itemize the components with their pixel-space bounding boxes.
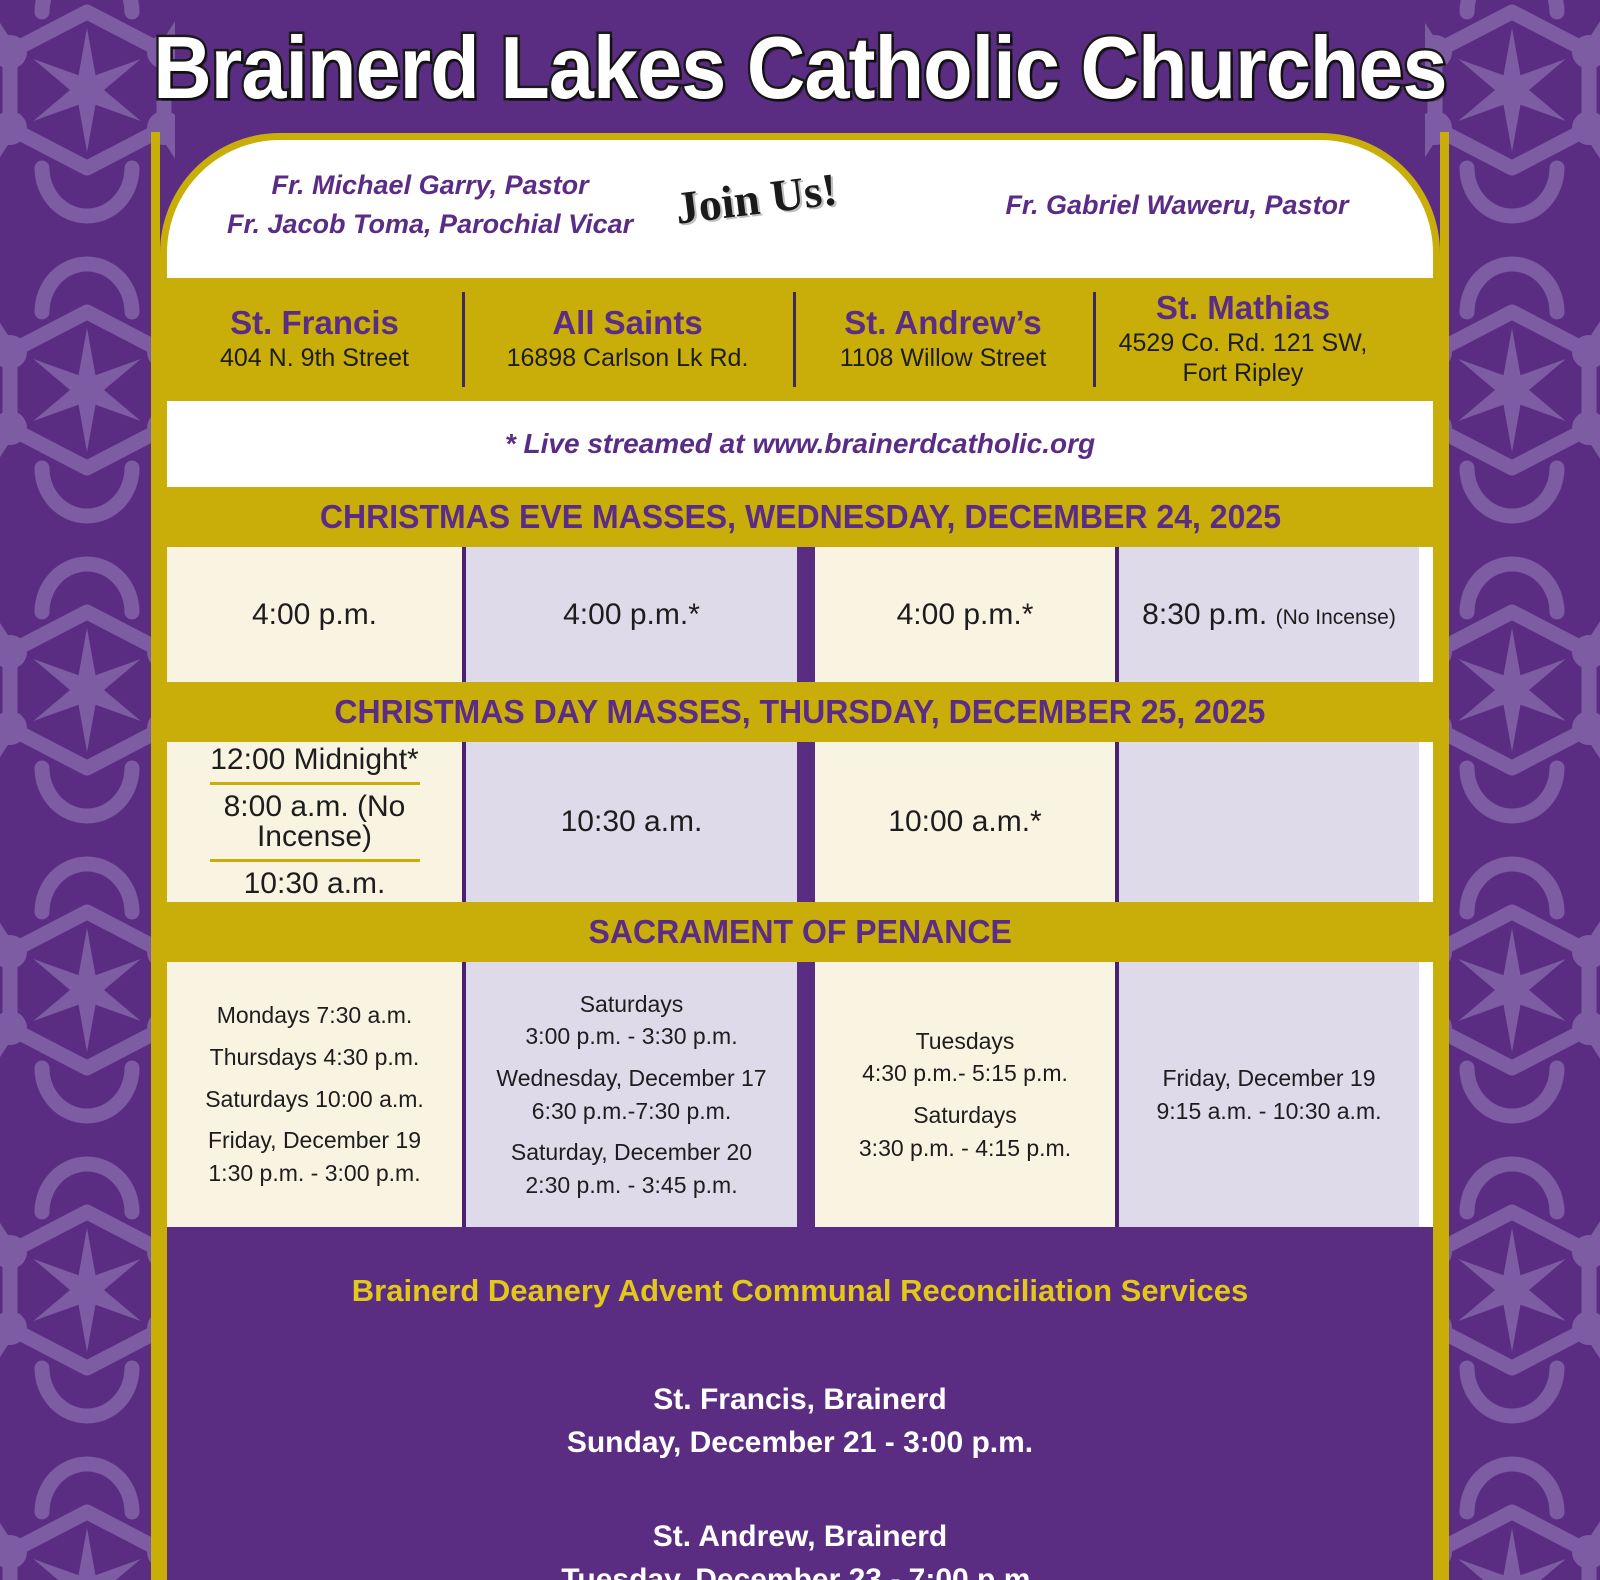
- penance-group: Friday, December 19 1:30 p.m. - 3:00 p.m…: [205, 1124, 424, 1189]
- penance-row: Mondays 7:30 a.m. Thursdays 4:30 p.m. Sa…: [167, 962, 1433, 1227]
- ornament-tile: [1425, 1140, 1600, 1440]
- ornament-tile: [0, 540, 175, 840]
- pastors-left-block: Fr. Michael Garry, Pastor Fr. Jacob Toma…: [227, 166, 633, 244]
- reconciliation-place: St. Francis, Brainerd: [187, 1379, 1413, 1422]
- parish-address-line2: Fort Ripley: [1183, 359, 1304, 387]
- christmas-eve-cell-all-saints: 4:00 p.m.*: [466, 547, 797, 682]
- penance-line: 4:30 p.m.- 5:15 p.m.: [859, 1057, 1071, 1090]
- parish-address: 404 N. 9th Street: [220, 343, 409, 373]
- mass-time: 4:00 p.m.: [252, 598, 377, 631]
- christmas-day-heading: CHRISTMAS DAY MASSES, THURSDAY, DECEMBER…: [335, 693, 1266, 731]
- parish-name: St. Francis: [230, 306, 399, 341]
- gold-rule-left: [151, 132, 160, 1580]
- christmas-eve-cell-st-francis: 4:00 p.m.: [167, 547, 462, 682]
- ornament-tile: [0, 840, 175, 1140]
- parish-address-line1: 4529 Co. Rd. 121 SW,: [1119, 329, 1368, 357]
- penance-heading: SACRAMENT OF PENANCE: [588, 913, 1011, 951]
- penance-line: Saturday, December 20: [496, 1136, 766, 1169]
- penance-line: 3:30 p.m. - 4:15 p.m.: [859, 1132, 1071, 1165]
- penance-group: Tuesdays 4:30 p.m.- 5:15 p.m.: [859, 1025, 1071, 1090]
- penance-line: Saturdays 10:00 a.m.: [205, 1083, 424, 1116]
- penance-line: Tuesdays: [859, 1025, 1071, 1058]
- ornament-tile: [0, 240, 175, 540]
- parish-name: All Saints: [552, 306, 702, 341]
- parish-address: 16898 Carlson Lk Rd.: [507, 343, 749, 373]
- ornament-tile: [1425, 540, 1600, 840]
- penance-line: Thursdays 4:30 p.m.: [205, 1041, 424, 1074]
- reconciliation-place: St. Andrew, Brainerd: [187, 1516, 1413, 1559]
- penance-line: Friday, December 19: [1156, 1062, 1381, 1095]
- penance-line: Friday, December 19: [205, 1124, 424, 1157]
- page-title: Brainerd Lakes Catholic Churches: [153, 24, 1446, 112]
- ornament-pattern-left: [0, 0, 175, 1580]
- penance-group: Saturday, December 20 2:30 p.m. - 3:45 p…: [496, 1136, 766, 1201]
- mass-time: 8:30 p.m.: [1142, 598, 1267, 631]
- pastors-row: Fr. Michael Garry, Pastor Fr. Jacob Toma…: [167, 140, 1433, 278]
- livestream-note: * Live streamed at www.brainerdcatholic.…: [167, 401, 1433, 487]
- penance-group: Thursdays 4:30 p.m.: [205, 1041, 424, 1074]
- penance-group: Wednesday, December 17 6:30 p.m.-7:30 p.…: [496, 1062, 766, 1127]
- content-card: Fr. Michael Garry, Pastor Fr. Jacob Toma…: [160, 133, 1440, 1580]
- ornament-tile: [1425, 1440, 1600, 1580]
- penance-group: Saturdays 10:00 a.m.: [205, 1083, 424, 1116]
- christmas-day-cell-st-andrews: 10:00 a.m.*: [815, 742, 1115, 902]
- reconciliation-entry: St. Andrew, Brainerd Tuesday, December 2…: [187, 1516, 1413, 1580]
- mass-time: 4:00 p.m.*: [563, 598, 700, 631]
- penance-cell-st-mathias: Friday, December 19 9:15 a.m. - 10:30 a.…: [1119, 962, 1419, 1227]
- poster-header: Brainerd Lakes Catholic Churches: [0, 0, 1600, 135]
- penance-heading-band: SACRAMENT OF PENANCE: [167, 902, 1433, 962]
- pastor-name-garry: Fr. Michael Garry, Pastor: [227, 166, 633, 205]
- penance-line: Saturdays: [859, 1099, 1071, 1132]
- parish-address: 4529 Co. Rd. 121 SW, Fort Ripley: [1119, 328, 1368, 388]
- mass-time: 10:30 a.m.: [167, 867, 462, 901]
- reconciliation-panel: Brainerd Deanery Advent Communal Reconci…: [167, 1227, 1433, 1580]
- parish-group-divider: [797, 742, 815, 902]
- pastor-name-waweru: Fr. Gabriel Waweru, Pastor: [967, 190, 1387, 221]
- poster-root: Brainerd Lakes Catholic Churches Fr. Mic…: [0, 0, 1600, 1580]
- reconciliation-entry: St. Francis, Brainerd Sunday, December 2…: [187, 1379, 1413, 1464]
- penance-line: 2:30 p.m. - 3:45 p.m.: [496, 1169, 766, 1202]
- penance-line: Wednesday, December 17: [496, 1062, 766, 1095]
- penance-group: Mondays 7:30 a.m.: [205, 999, 424, 1032]
- penance-group: Friday, December 19 9:15 a.m. - 10:30 a.…: [1156, 1062, 1381, 1127]
- christmas-day-cell-st-francis: 12:00 Midnight* 8:00 a.m. (No Incense) 1…: [167, 742, 462, 902]
- parish-name: St. Mathias: [1156, 291, 1330, 326]
- parish-address: 1108 Willow Street: [840, 343, 1047, 373]
- penance-group: Saturdays 3:30 p.m. - 4:15 p.m.: [859, 1099, 1071, 1164]
- mass-time: 12:00 Midnight*: [167, 743, 462, 777]
- gold-rule-right: [1440, 132, 1449, 1580]
- pastor-name-toma: Fr. Jacob Toma, Parochial Vicar: [227, 205, 633, 244]
- mass-time: 4:00 p.m.*: [897, 598, 1034, 631]
- penance-group: Saturdays 3:00 p.m. - 3:30 p.m.: [496, 988, 766, 1053]
- mass-time-note: (No Incense): [1276, 606, 1396, 629]
- ornament-tile: [1425, 840, 1600, 1140]
- parish-header-st-mathias: St. Mathias 4529 Co. Rd. 121 SW, Fort Ri…: [1093, 278, 1393, 401]
- parish-group-divider: [797, 962, 815, 1227]
- christmas-eve-times-row: 4:00 p.m. 4:00 p.m.* 4:00 p.m.* 8:30 p.m…: [167, 547, 1433, 682]
- christmas-day-times-row: 12:00 Midnight* 8:00 a.m. (No Incense) 1…: [167, 742, 1433, 902]
- christmas-day-cell-all-saints: 10:30 a.m.: [466, 742, 797, 902]
- penance-line: 6:30 p.m.-7:30 p.m.: [496, 1095, 766, 1128]
- time-separator-rule: [210, 782, 420, 785]
- christmas-eve-heading-band: CHRISTMAS EVE MASSES, WEDNESDAY, DECEMBE…: [167, 487, 1433, 547]
- join-us-label: Join Us!: [672, 162, 840, 234]
- reconciliation-when: Tuesday, December 23 - 7:00 p.m.: [187, 1559, 1413, 1580]
- reconciliation-title: Brainerd Deanery Advent Communal Reconci…: [187, 1273, 1413, 1309]
- penance-cell-st-andrews: Tuesdays 4:30 p.m.- 5:15 p.m. Saturdays …: [815, 962, 1115, 1227]
- parish-header-st-andrews: St. Andrew’s 1108 Willow Street: [793, 278, 1093, 401]
- parish-group-divider: [797, 547, 815, 682]
- penance-line: 9:15 a.m. - 10:30 a.m.: [1156, 1095, 1381, 1128]
- penance-line: 1:30 p.m. - 3:00 p.m.: [205, 1157, 424, 1190]
- penance-cell-all-saints: Saturdays 3:00 p.m. - 3:30 p.m. Wednesda…: [466, 962, 797, 1227]
- ornament-tile: [0, 1440, 175, 1580]
- penance-line: Saturdays: [496, 988, 766, 1021]
- ornament-pattern-right: [1425, 0, 1600, 1580]
- penance-line: 3:00 p.m. - 3:30 p.m.: [496, 1020, 766, 1053]
- mass-time: 8:00 a.m.: [224, 790, 349, 823]
- time-separator-rule: [210, 859, 420, 862]
- christmas-day-heading-band: CHRISTMAS DAY MASSES, THURSDAY, DECEMBER…: [167, 682, 1433, 742]
- parish-header-band: St. Francis 404 N. 9th Street All Saints…: [167, 278, 1433, 401]
- mass-time: 10:00 a.m.*: [888, 803, 1041, 841]
- christmas-eve-heading: CHRISTMAS EVE MASSES, WEDNESDAY, DECEMBE…: [319, 498, 1280, 536]
- christmas-eve-cell-st-andrews: 4:00 p.m.*: [815, 547, 1115, 682]
- christmas-day-cell-st-mathias: [1119, 742, 1419, 902]
- parish-name: St. Andrew’s: [844, 306, 1041, 341]
- livestream-text: * Live streamed at www.brainerdcatholic.…: [505, 428, 1095, 460]
- parish-header-all-saints: All Saints 16898 Carlson Lk Rd.: [462, 278, 793, 401]
- mass-time: 10:30 a.m.: [561, 803, 703, 841]
- reconciliation-when: Sunday, December 21 - 3:00 p.m.: [187, 1422, 1413, 1465]
- ornament-tile: [0, 1140, 175, 1440]
- penance-line: Mondays 7:30 a.m.: [205, 999, 424, 1032]
- ornament-tile: [1425, 240, 1600, 540]
- parish-header-st-francis: St. Francis 404 N. 9th Street: [167, 278, 462, 401]
- penance-cell-st-francis: Mondays 7:30 a.m. Thursdays 4:30 p.m. Sa…: [167, 962, 462, 1227]
- christmas-eve-cell-st-mathias: 8:30 p.m. (No Incense): [1119, 547, 1419, 682]
